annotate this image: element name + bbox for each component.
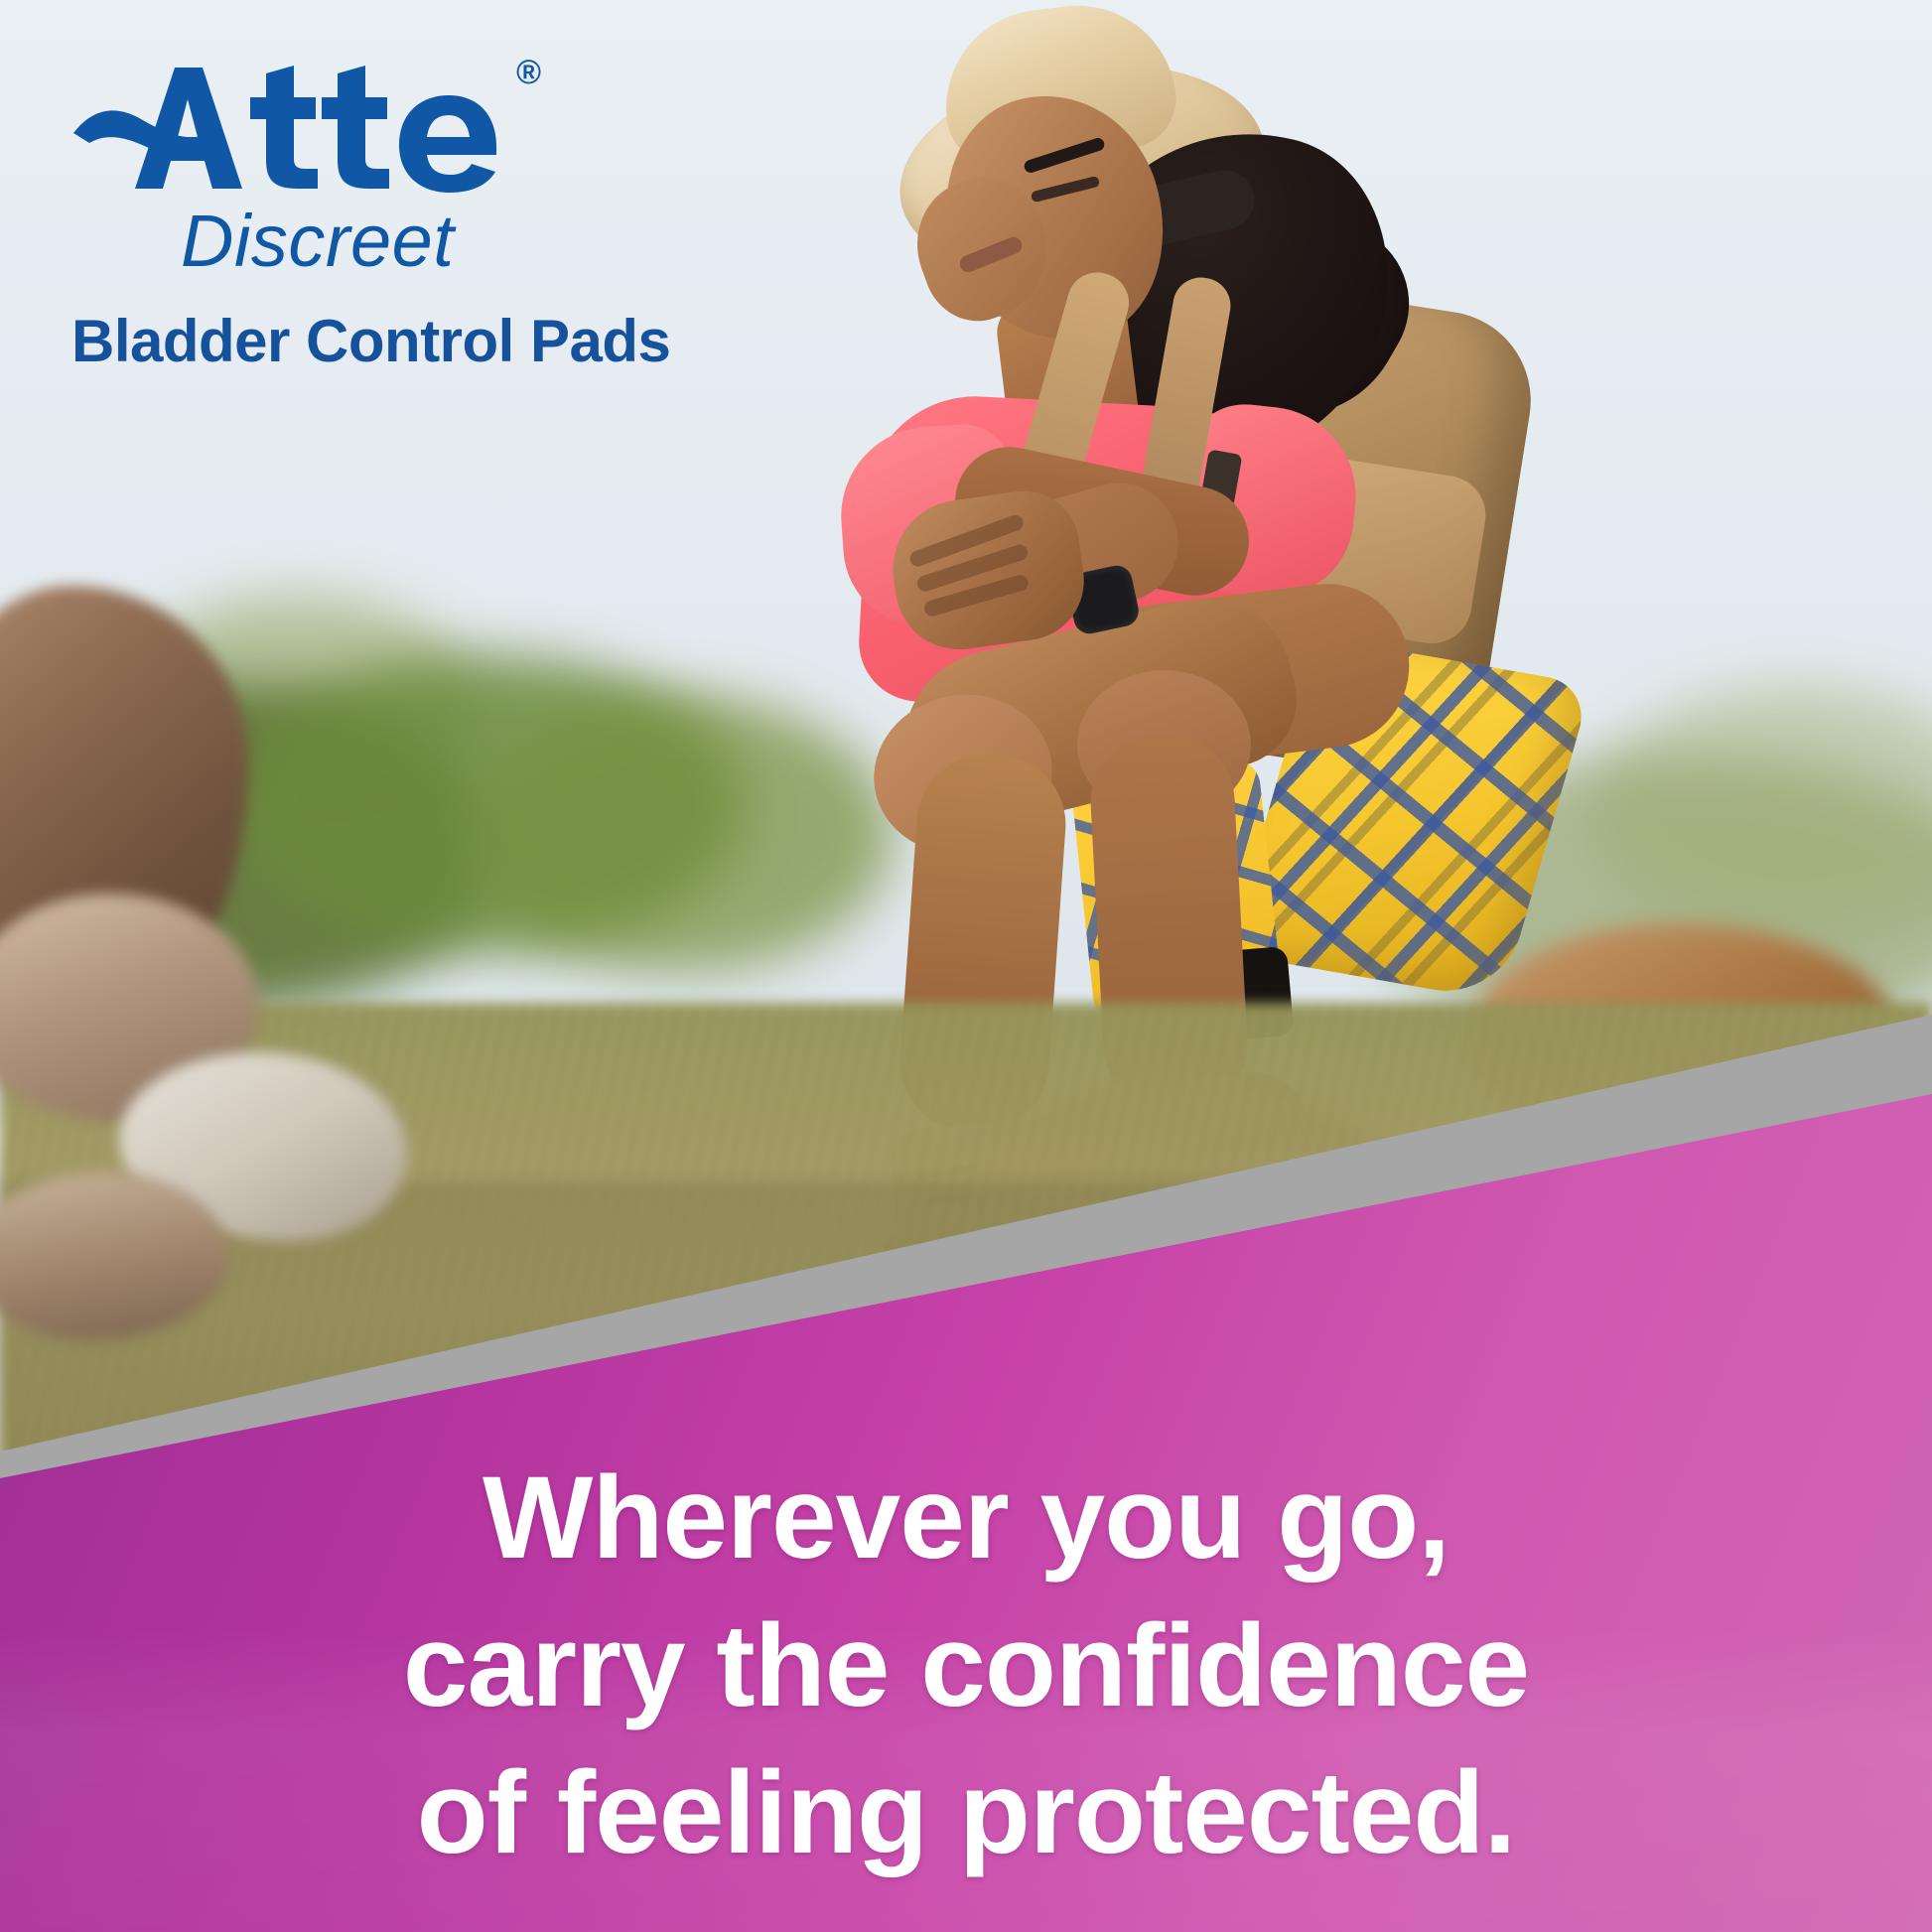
attends-logo-icon bbox=[71, 52, 538, 201]
tagline-line-2: carry the confidence bbox=[60, 1592, 1872, 1740]
product-line-title: Bladder Control Pads bbox=[71, 312, 670, 371]
attends-wordmark: ® bbox=[71, 52, 670, 210]
tagline-line-1: Wherever you go, bbox=[60, 1445, 1872, 1592]
advertisement-canvas: ® Discreet Bladder Control Pads Wherever… bbox=[0, 0, 1932, 1932]
tagline: Wherever you go, carry the confidence of… bbox=[0, 1445, 1932, 1887]
registered-trademark-icon: ® bbox=[516, 56, 541, 89]
brand-lockup: ® Discreet Bladder Control Pads bbox=[71, 52, 670, 371]
sub-brand-name: Discreet bbox=[181, 205, 670, 278]
tagline-line-3: of feeling protected. bbox=[60, 1739, 1872, 1887]
